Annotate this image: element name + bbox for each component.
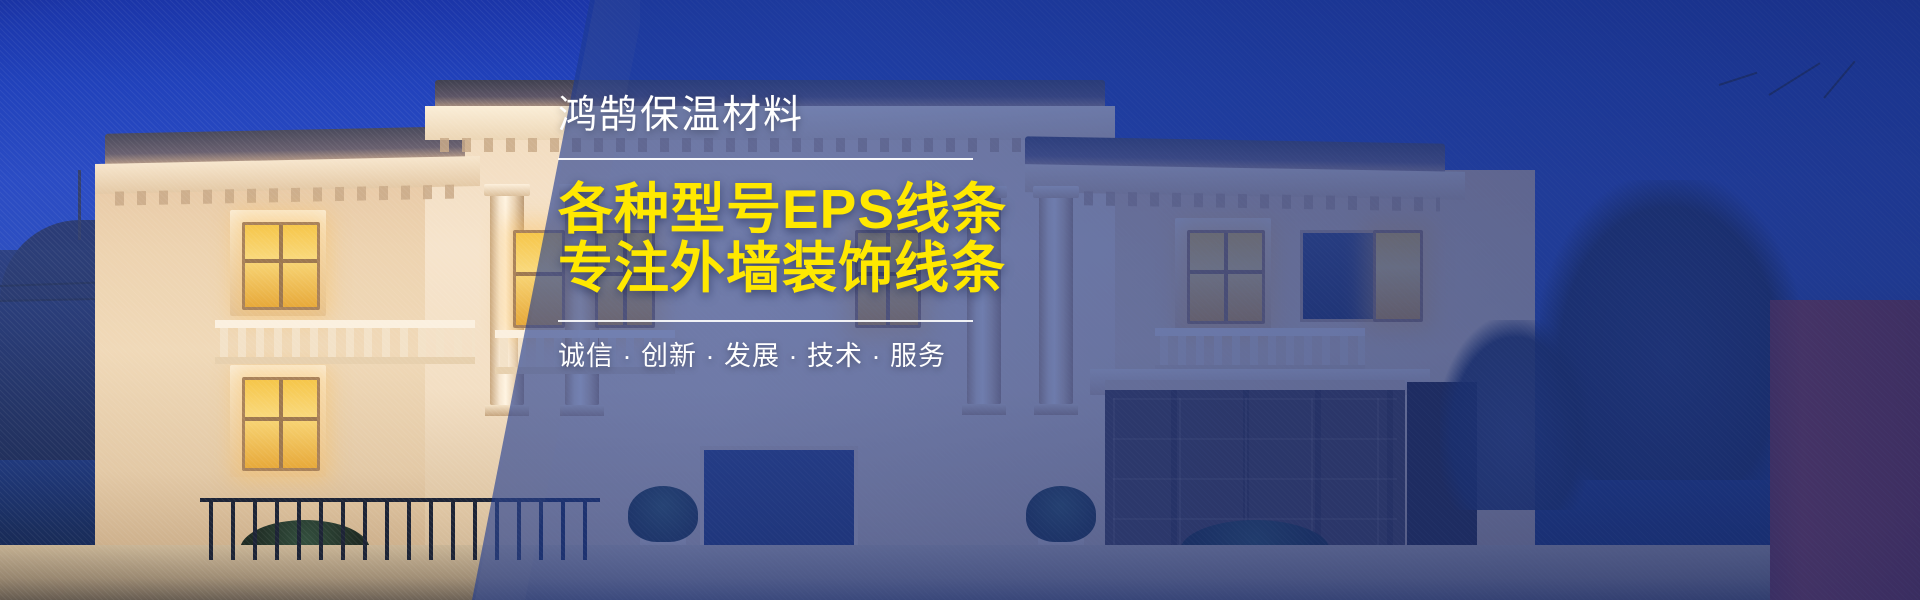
- column-capital: [484, 184, 530, 196]
- lit-window: [1187, 230, 1265, 324]
- lit-window: [242, 377, 320, 471]
- headline: 各种型号EPS线条 专注外墙装饰线条: [558, 180, 1028, 298]
- tree: [1440, 320, 1590, 510]
- column: [1039, 192, 1073, 404]
- headline-line-2: 专注外墙装饰线条: [558, 239, 1028, 298]
- lit-window: [1373, 230, 1423, 322]
- hero-banner: 鸿鹄保温材料 各种型号EPS线条 专注外墙装饰线条 诚信 · 创新 · 发展 ·…: [0, 0, 1920, 600]
- iron-railing: [200, 498, 600, 560]
- divider-top: [558, 158, 973, 160]
- column-base: [485, 405, 529, 416]
- balustrade: [215, 320, 475, 364]
- red-panel: [1770, 300, 1920, 600]
- headline-line-1: 各种型号EPS线条: [558, 180, 1028, 239]
- divider-bottom: [558, 320, 973, 322]
- column-base: [560, 405, 604, 416]
- column-base: [962, 404, 1006, 415]
- antenna-mast: [78, 170, 81, 240]
- shrub: [628, 486, 698, 542]
- banner-text-block: 鸿鹄保温材料 各种型号EPS线条 专注外墙装饰线条 诚信 · 创新 · 发展 ·…: [558, 96, 1028, 370]
- dark-window: [1300, 230, 1376, 322]
- column-capital: [1033, 186, 1079, 198]
- tagline: 诚信 · 创新 · 发展 · 技术 · 服务: [558, 343, 1028, 370]
- company-name: 鸿鹄保温材料: [558, 96, 1028, 135]
- column-base: [1034, 404, 1078, 415]
- lit-window: [242, 222, 320, 310]
- shrub: [1026, 486, 1096, 542]
- balustrade: [1155, 328, 1365, 372]
